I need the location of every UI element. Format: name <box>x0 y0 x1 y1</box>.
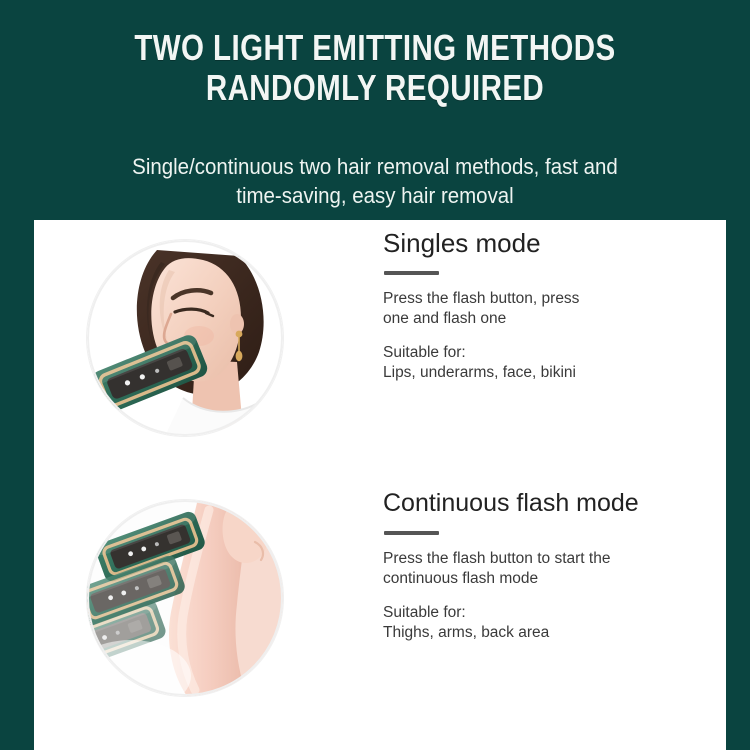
subtitle-line-2: time-saving, easy hair removal <box>26 181 724 210</box>
page-title: TWO LIGHT EMITTING METHODS RANDOMLY REQU… <box>0 28 750 108</box>
title-divider <box>384 271 439 275</box>
earring-stud <box>236 331 243 338</box>
mode-description: Press the flash button, press one and fl… <box>383 289 719 329</box>
mode-suitable-for: Suitable for: Lips, underarms, face, bik… <box>383 343 719 383</box>
subtitle-line-1: Single/continuous two hair removal metho… <box>26 152 724 181</box>
infographic-page: TWO LIGHT EMITTING METHODS RANDOMLY REQU… <box>0 0 750 750</box>
mode-description: Press the flash button to start the cont… <box>383 549 719 589</box>
photo-continuous-mode <box>87 500 283 696</box>
earring-drop <box>236 351 243 361</box>
content-card: Singles mode Press the flash button, pre… <box>34 220 726 750</box>
title-line-1: TWO LIGHT EMITTING METHODS <box>68 28 683 68</box>
ear <box>230 314 244 334</box>
mode-title: Continuous flash mode <box>383 488 719 518</box>
title-divider <box>384 531 439 535</box>
photo-singles-mode <box>87 240 283 436</box>
mode-text-singles: Singles mode Press the flash button, pre… <box>383 228 719 383</box>
leg-devices-illustration <box>87 500 283 696</box>
mode-suitable-for: Suitable for: Thighs, arms, back area <box>383 603 719 643</box>
mode-row-singles: Singles mode Press the flash button, pre… <box>34 228 726 468</box>
mode-row-continuous: Continuous flash mode Press the flash bu… <box>34 488 726 728</box>
mode-text-continuous: Continuous flash mode Press the flash bu… <box>383 488 719 643</box>
face-device-illustration <box>87 240 283 436</box>
title-line-2: RANDOMLY REQUIRED <box>68 68 683 108</box>
header-banner: TWO LIGHT EMITTING METHODS RANDOMLY REQU… <box>0 0 750 220</box>
page-subtitle: Single/continuous two hair removal metho… <box>0 152 750 210</box>
mode-title: Singles mode <box>383 228 719 258</box>
